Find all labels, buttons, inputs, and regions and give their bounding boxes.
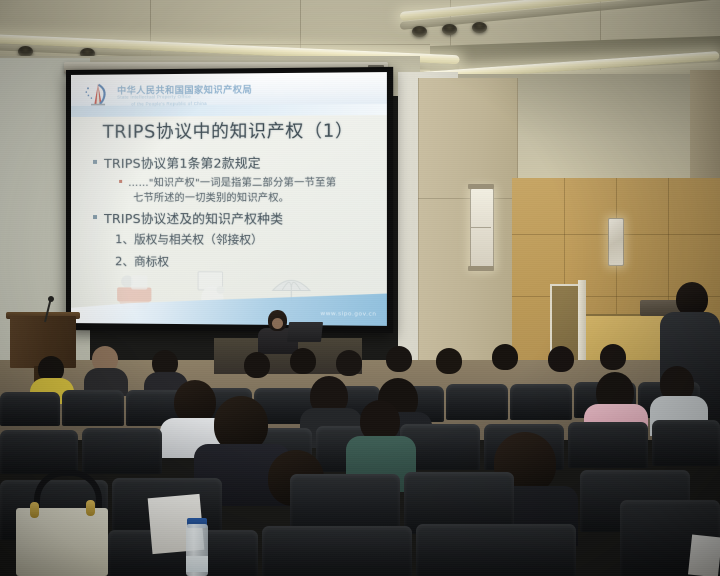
audience-head (436, 348, 462, 374)
auditorium-seat (82, 428, 162, 474)
logo-text-en-line2: of the People's Republic of China (131, 101, 207, 107)
auditorium-seat (510, 384, 572, 420)
lecture-hall-photo: 中华人民共和国国家知识产权局 State Intellectual Proper… (0, 0, 720, 576)
auditorium-seat (446, 384, 508, 420)
sconce-bracket (468, 184, 494, 189)
wall-sconce-small (608, 218, 624, 266)
audience-head (492, 344, 518, 370)
audience-head (290, 348, 316, 374)
sconce-bracket (468, 266, 494, 271)
sipo-logo: 中华人民共和国国家知识产权局 State Intellectual Proper… (83, 78, 261, 114)
cream-handbag (16, 508, 108, 576)
slide-numbered-2: 2、商标权 (115, 253, 169, 269)
standing-attendee-head (676, 282, 708, 316)
audience-head (548, 346, 574, 372)
wall-sconce-large (470, 188, 494, 270)
slide-title: TRIPS协议中的知识产权（1） (71, 117, 387, 144)
audience-head (600, 344, 626, 370)
audience-head (244, 352, 270, 378)
slide-footer-url: www.sipo.gov.cn (320, 311, 376, 318)
presenter-laptop (287, 322, 323, 342)
auditorium-seat (0, 430, 78, 474)
presentation-slide: 中华人民共和国国家知识产权局 State Intellectual Proper… (71, 72, 387, 326)
bullet-marker (93, 160, 97, 164)
auditorium-seat-front (416, 524, 576, 576)
auditorium-seat (652, 420, 720, 466)
audience-head (386, 346, 412, 372)
bullet-marker (93, 215, 97, 219)
sipo-pillar-logo-icon (83, 82, 113, 112)
audience-head (336, 350, 362, 376)
structural-column (418, 78, 518, 378)
auditorium-seat-front (262, 526, 412, 576)
slide-bullet-1: TRIPS协议第1条第2款规定 (104, 152, 261, 172)
downlight (472, 22, 487, 33)
logo-text-en-line1: State Intellectual Property Office (117, 94, 191, 100)
door-panel-edge (578, 280, 586, 372)
auditorium-seat (568, 422, 648, 468)
handbag-clasp (86, 500, 95, 516)
handbag-clasp (30, 502, 39, 518)
handout-papers (688, 535, 720, 576)
downlight (412, 26, 427, 37)
microphone-head (48, 296, 54, 302)
presenter-face (272, 318, 283, 329)
slide-bullet-4: TRIPS协议述及的知识产权种类 (104, 208, 283, 227)
slide-numbered-1: 1、版权与相关权（邻接权） (115, 231, 263, 248)
downlight (442, 24, 457, 35)
slide-bullet-3: 七节所述的一切类别的知识产权。 (133, 189, 289, 204)
bullet-marker-sub (119, 180, 122, 183)
auditorium-seat (0, 392, 60, 426)
auditorium-seat (62, 390, 124, 426)
slide-bullet-2: ……"知识产权"一词是指第二部分第一节至第 (128, 173, 336, 188)
projection-screen: 中华人民共和国国家知识产权局 State Intellectual Proper… (66, 67, 393, 333)
water-bottle-label (186, 556, 208, 572)
